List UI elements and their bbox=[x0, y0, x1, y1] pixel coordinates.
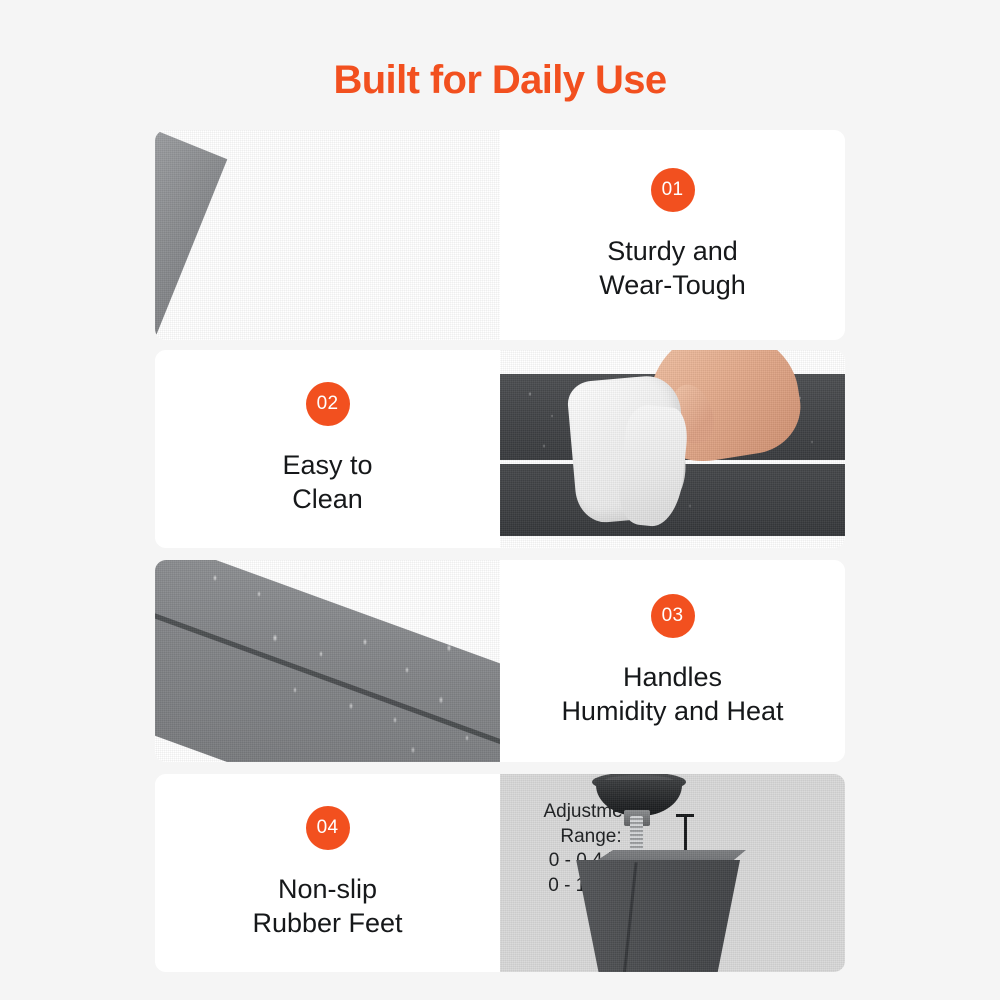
infographic-page: Built for Daily Use 01 Sturdy and Wear-T… bbox=[0, 0, 1000, 1000]
feature-text-03: 03 Handles Humidity and Heat bbox=[500, 560, 845, 762]
feature-card-02: 02 Easy to Clean bbox=[155, 350, 845, 548]
feature-heading-line-2: Clean bbox=[282, 482, 372, 516]
feature-badge-04: 04 bbox=[306, 806, 350, 850]
feature-heading-line-2: Rubber Feet bbox=[252, 906, 402, 940]
feature-card-04: 04 Non-slip Rubber Feet Adjustment Range… bbox=[155, 774, 845, 972]
feature-text-01: 01 Sturdy and Wear-Tough bbox=[500, 130, 845, 340]
callout-line-2: Range: bbox=[516, 825, 666, 850]
beam-top-face bbox=[155, 560, 500, 762]
leg-light-left bbox=[155, 130, 227, 340]
page-title: Built for Daily Use bbox=[0, 58, 1000, 103]
feature-image-01 bbox=[155, 130, 500, 340]
feature-image-04: Adjustment Range: 0 - 0.4 in / 0 - 10 mm bbox=[500, 774, 845, 972]
feature-card-03: 03 Handles Humidity and Heat bbox=[155, 560, 845, 762]
feature-heading-line-2: Wear-Tough bbox=[599, 268, 746, 302]
feature-card-01: 01 Sturdy and Wear-Tough bbox=[155, 130, 845, 340]
feature-heading-03: Handles Humidity and Heat bbox=[547, 660, 797, 728]
feature-heading-line-1: Handles bbox=[561, 660, 783, 694]
feature-text-02: 02 Easy to Clean bbox=[155, 350, 500, 548]
feature-badge-02: 02 bbox=[306, 382, 350, 426]
feature-heading-line-1: Easy to bbox=[282, 448, 372, 482]
feature-heading-02: Easy to Clean bbox=[268, 448, 386, 516]
feature-heading-line-1: Non-slip bbox=[252, 872, 402, 906]
feature-badge-01: 01 bbox=[651, 168, 695, 212]
feature-badge-03: 03 bbox=[651, 594, 695, 638]
table-leg bbox=[558, 860, 740, 972]
feature-text-04: 04 Non-slip Rubber Feet bbox=[155, 774, 500, 972]
feature-heading-line-1: Sturdy and bbox=[599, 234, 746, 268]
feature-heading-01: Sturdy and Wear-Tough bbox=[585, 234, 760, 302]
feature-heading-04: Non-slip Rubber Feet bbox=[238, 872, 416, 940]
feature-image-03 bbox=[155, 560, 500, 762]
feature-heading-line-2: Humidity and Heat bbox=[561, 694, 783, 728]
feature-image-02 bbox=[500, 350, 845, 548]
